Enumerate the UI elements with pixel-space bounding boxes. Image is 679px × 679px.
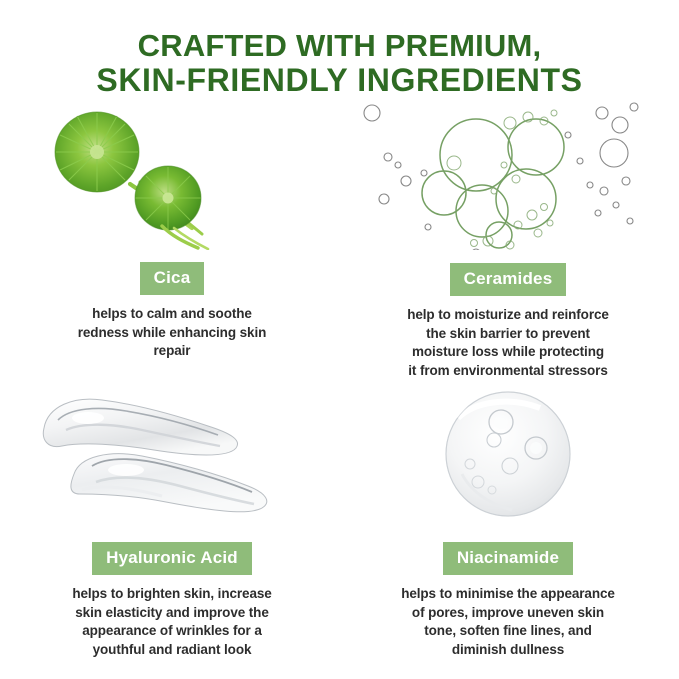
page-title-line-2: SKIN-FRIENDLY INGREDIENTS [0,63,679,98]
description-line: helps to brighten skin, increase [22,585,322,604]
description-line: skin elasticity and improve the [22,604,322,623]
ingredient-card-cica: Cica helps to calm and soothe redness wh… [22,100,322,361]
description-line: youthful and radiant look [22,641,322,660]
description-line: diminish dullness [358,641,658,660]
ingredient-label-niacinamide: Niacinamide [443,542,573,575]
ingredient-description-ceramides: help to moisturize and reinforce the ski… [358,306,658,380]
badge-row-hyaluronic-acid: Hyaluronic Acid [22,542,322,575]
ingredient-description-cica: helps to calm and soothe redness while e… [22,305,322,361]
description-line: repair [22,342,322,361]
serum-droplet-illustration [358,378,658,528]
description-line: helps to minimise the appearance [358,585,658,604]
badge-row-niacinamide: Niacinamide [358,542,658,575]
description-line: the skin barrier to prevent [358,325,658,344]
bubble-cluster-illustration [358,95,658,245]
clear-gel-swatch-illustration [22,378,322,528]
description-line: tone, soften fine lines, and [358,622,658,641]
ingredient-label-ceramides: Ceramides [450,263,567,296]
ingredient-description-niacinamide: helps to minimise the appearance of pore… [358,585,658,659]
page-title: CRAFTED WITH PREMIUM, SKIN-FRIENDLY INGR… [0,28,679,98]
badge-row-cica: Cica [22,262,322,295]
description-line: of pores, improve uneven skin [358,604,658,623]
ingredient-label-cica: Cica [140,262,205,295]
ingredient-card-niacinamide: Niacinamide helps to minimise the appear… [358,378,658,659]
ingredient-description-hyaluronic-acid: helps to brighten skin, increase skin el… [22,585,322,659]
description-line: moisture loss while protecting [358,343,658,362]
ingredient-card-hyaluronic-acid: Hyaluronic Acid helps to brighten skin, … [22,378,322,659]
description-line: help to moisturize and reinforce [358,306,658,325]
page-title-line-1: CRAFTED WITH PREMIUM, [0,28,679,63]
ingredients-infographic: CRAFTED WITH PREMIUM, SKIN-FRIENDLY INGR… [0,0,679,679]
centella-leaves-illustration [22,100,322,250]
description-line: helps to calm and soothe [22,305,322,324]
description-line: appearance of wrinkles for a [22,622,322,641]
badge-row-ceramides: Ceramides [358,263,658,296]
ingredient-label-hyaluronic-acid: Hyaluronic Acid [92,542,252,575]
ingredient-card-ceramides: Ceramides help to moisturize and reinfor… [358,95,658,380]
description-line: redness while enhancing skin [22,324,322,343]
